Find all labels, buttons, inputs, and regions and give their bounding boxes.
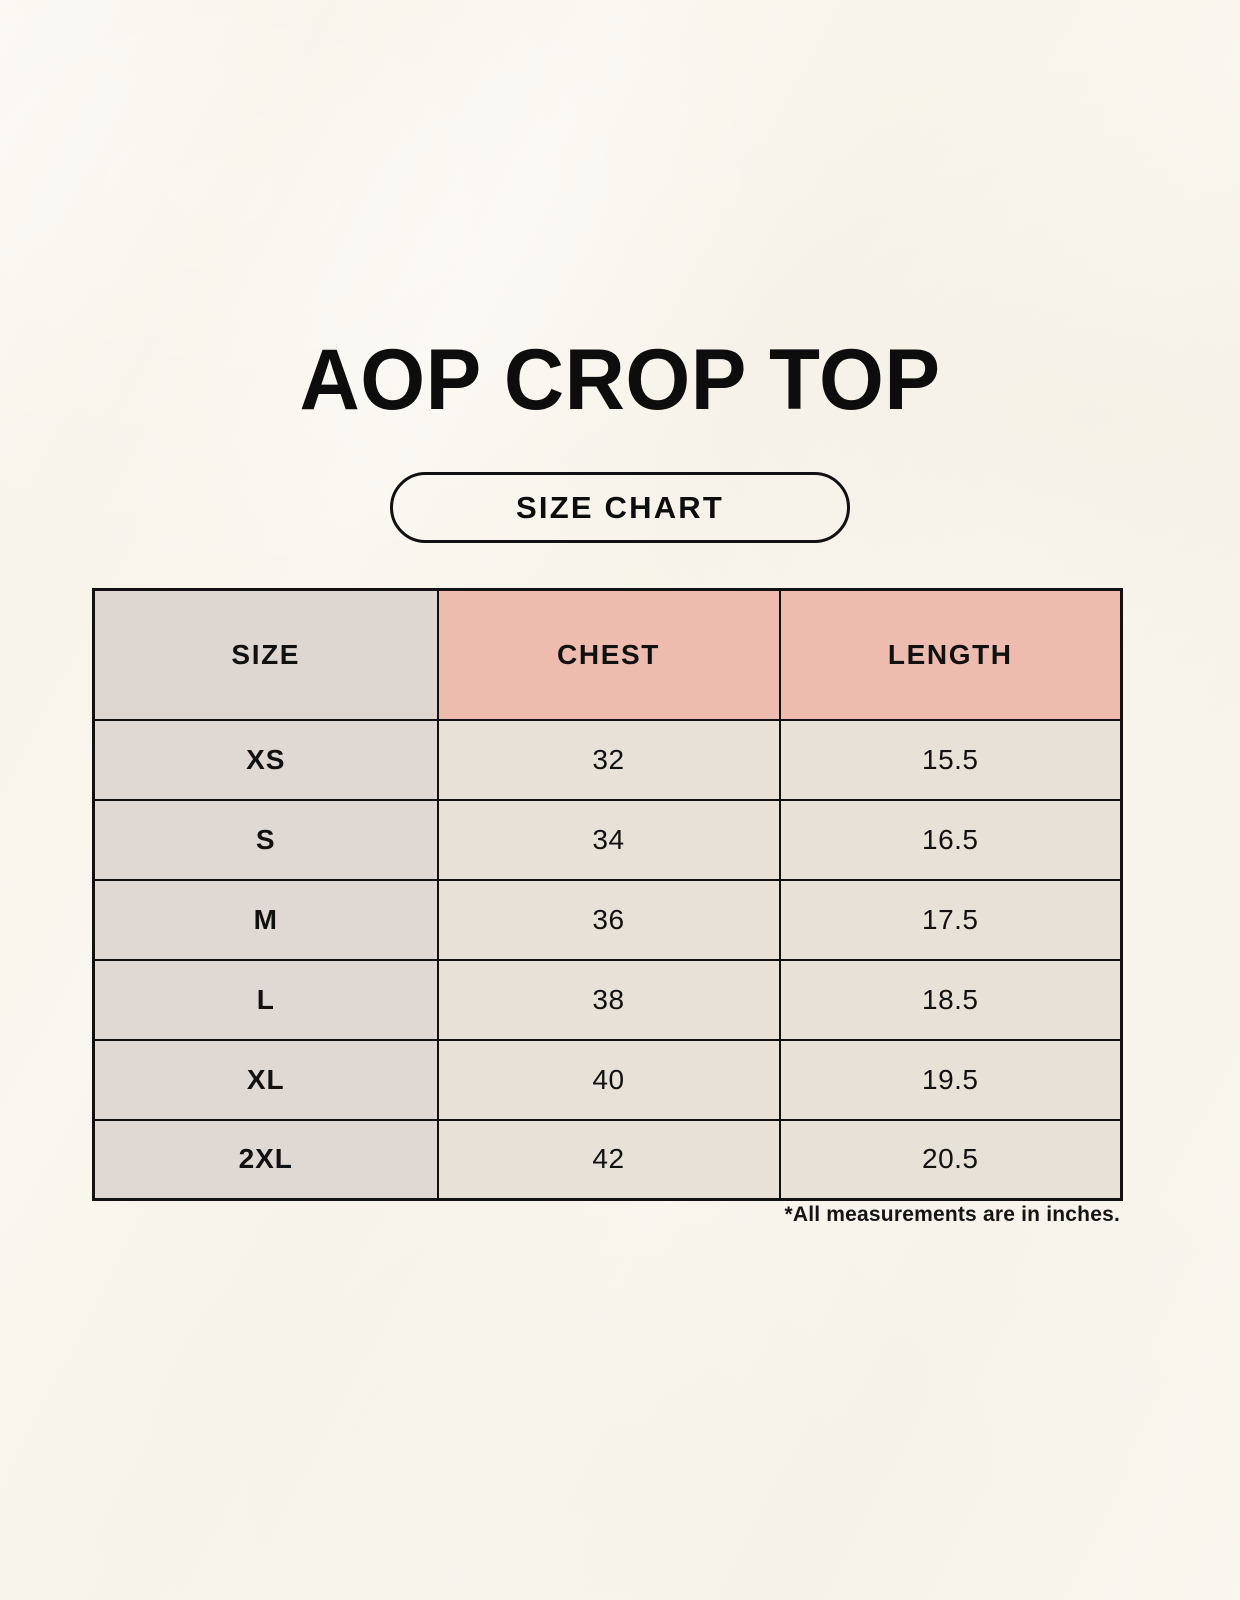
cell-chest: 36 [438,880,780,960]
cell-length: 17.5 [780,880,1122,960]
cell-length: 18.5 [780,960,1122,1040]
cell-length: 20.5 [780,1120,1122,1200]
cell-chest: 40 [438,1040,780,1120]
cell-size: S [94,800,438,880]
table-row: 2XL 42 20.5 [94,1120,1122,1200]
cell-chest: 42 [438,1120,780,1200]
table-row: XL 40 19.5 [94,1040,1122,1120]
table-row: XS 32 15.5 [94,720,1122,800]
table-row: M 36 17.5 [94,880,1122,960]
cell-length: 16.5 [780,800,1122,880]
cell-chest: 32 [438,720,780,800]
cell-length: 15.5 [780,720,1122,800]
cell-size: 2XL [94,1120,438,1200]
column-header-chest: CHEST [438,590,780,720]
size-chart-badge: SIZE CHART [390,472,850,543]
column-header-length: LENGTH [780,590,1122,720]
size-chart-table: SIZE CHEST LENGTH XS 32 15.5 S 34 16.5 M [92,588,1123,1201]
cell-size: L [94,960,438,1040]
table-header-row: SIZE CHEST LENGTH [94,590,1122,720]
page-title: AOP CROP TOP [19,332,1222,428]
table-row: S 34 16.5 [94,800,1122,880]
table-header: SIZE CHEST LENGTH [94,590,1122,720]
cell-chest: 34 [438,800,780,880]
table-body: XS 32 15.5 S 34 16.5 M 36 17.5 L 38 [94,720,1122,1200]
size-table-container: SIZE CHEST LENGTH XS 32 15.5 S 34 16.5 M [92,588,1120,1201]
cell-length: 19.5 [780,1040,1122,1120]
measurements-footnote: *All measurements are in inches. [92,1203,1120,1227]
cell-size: M [94,880,438,960]
cell-size: XS [94,720,438,800]
badge-container: SIZE CHART [0,472,1240,543]
cell-size: XL [94,1040,438,1120]
size-chart-page: AOP CROP TOP SIZE CHART SIZE CHEST LENGT… [0,0,1240,1600]
cell-chest: 38 [438,960,780,1040]
column-header-size: SIZE [94,590,438,720]
table-row: L 38 18.5 [94,960,1122,1040]
